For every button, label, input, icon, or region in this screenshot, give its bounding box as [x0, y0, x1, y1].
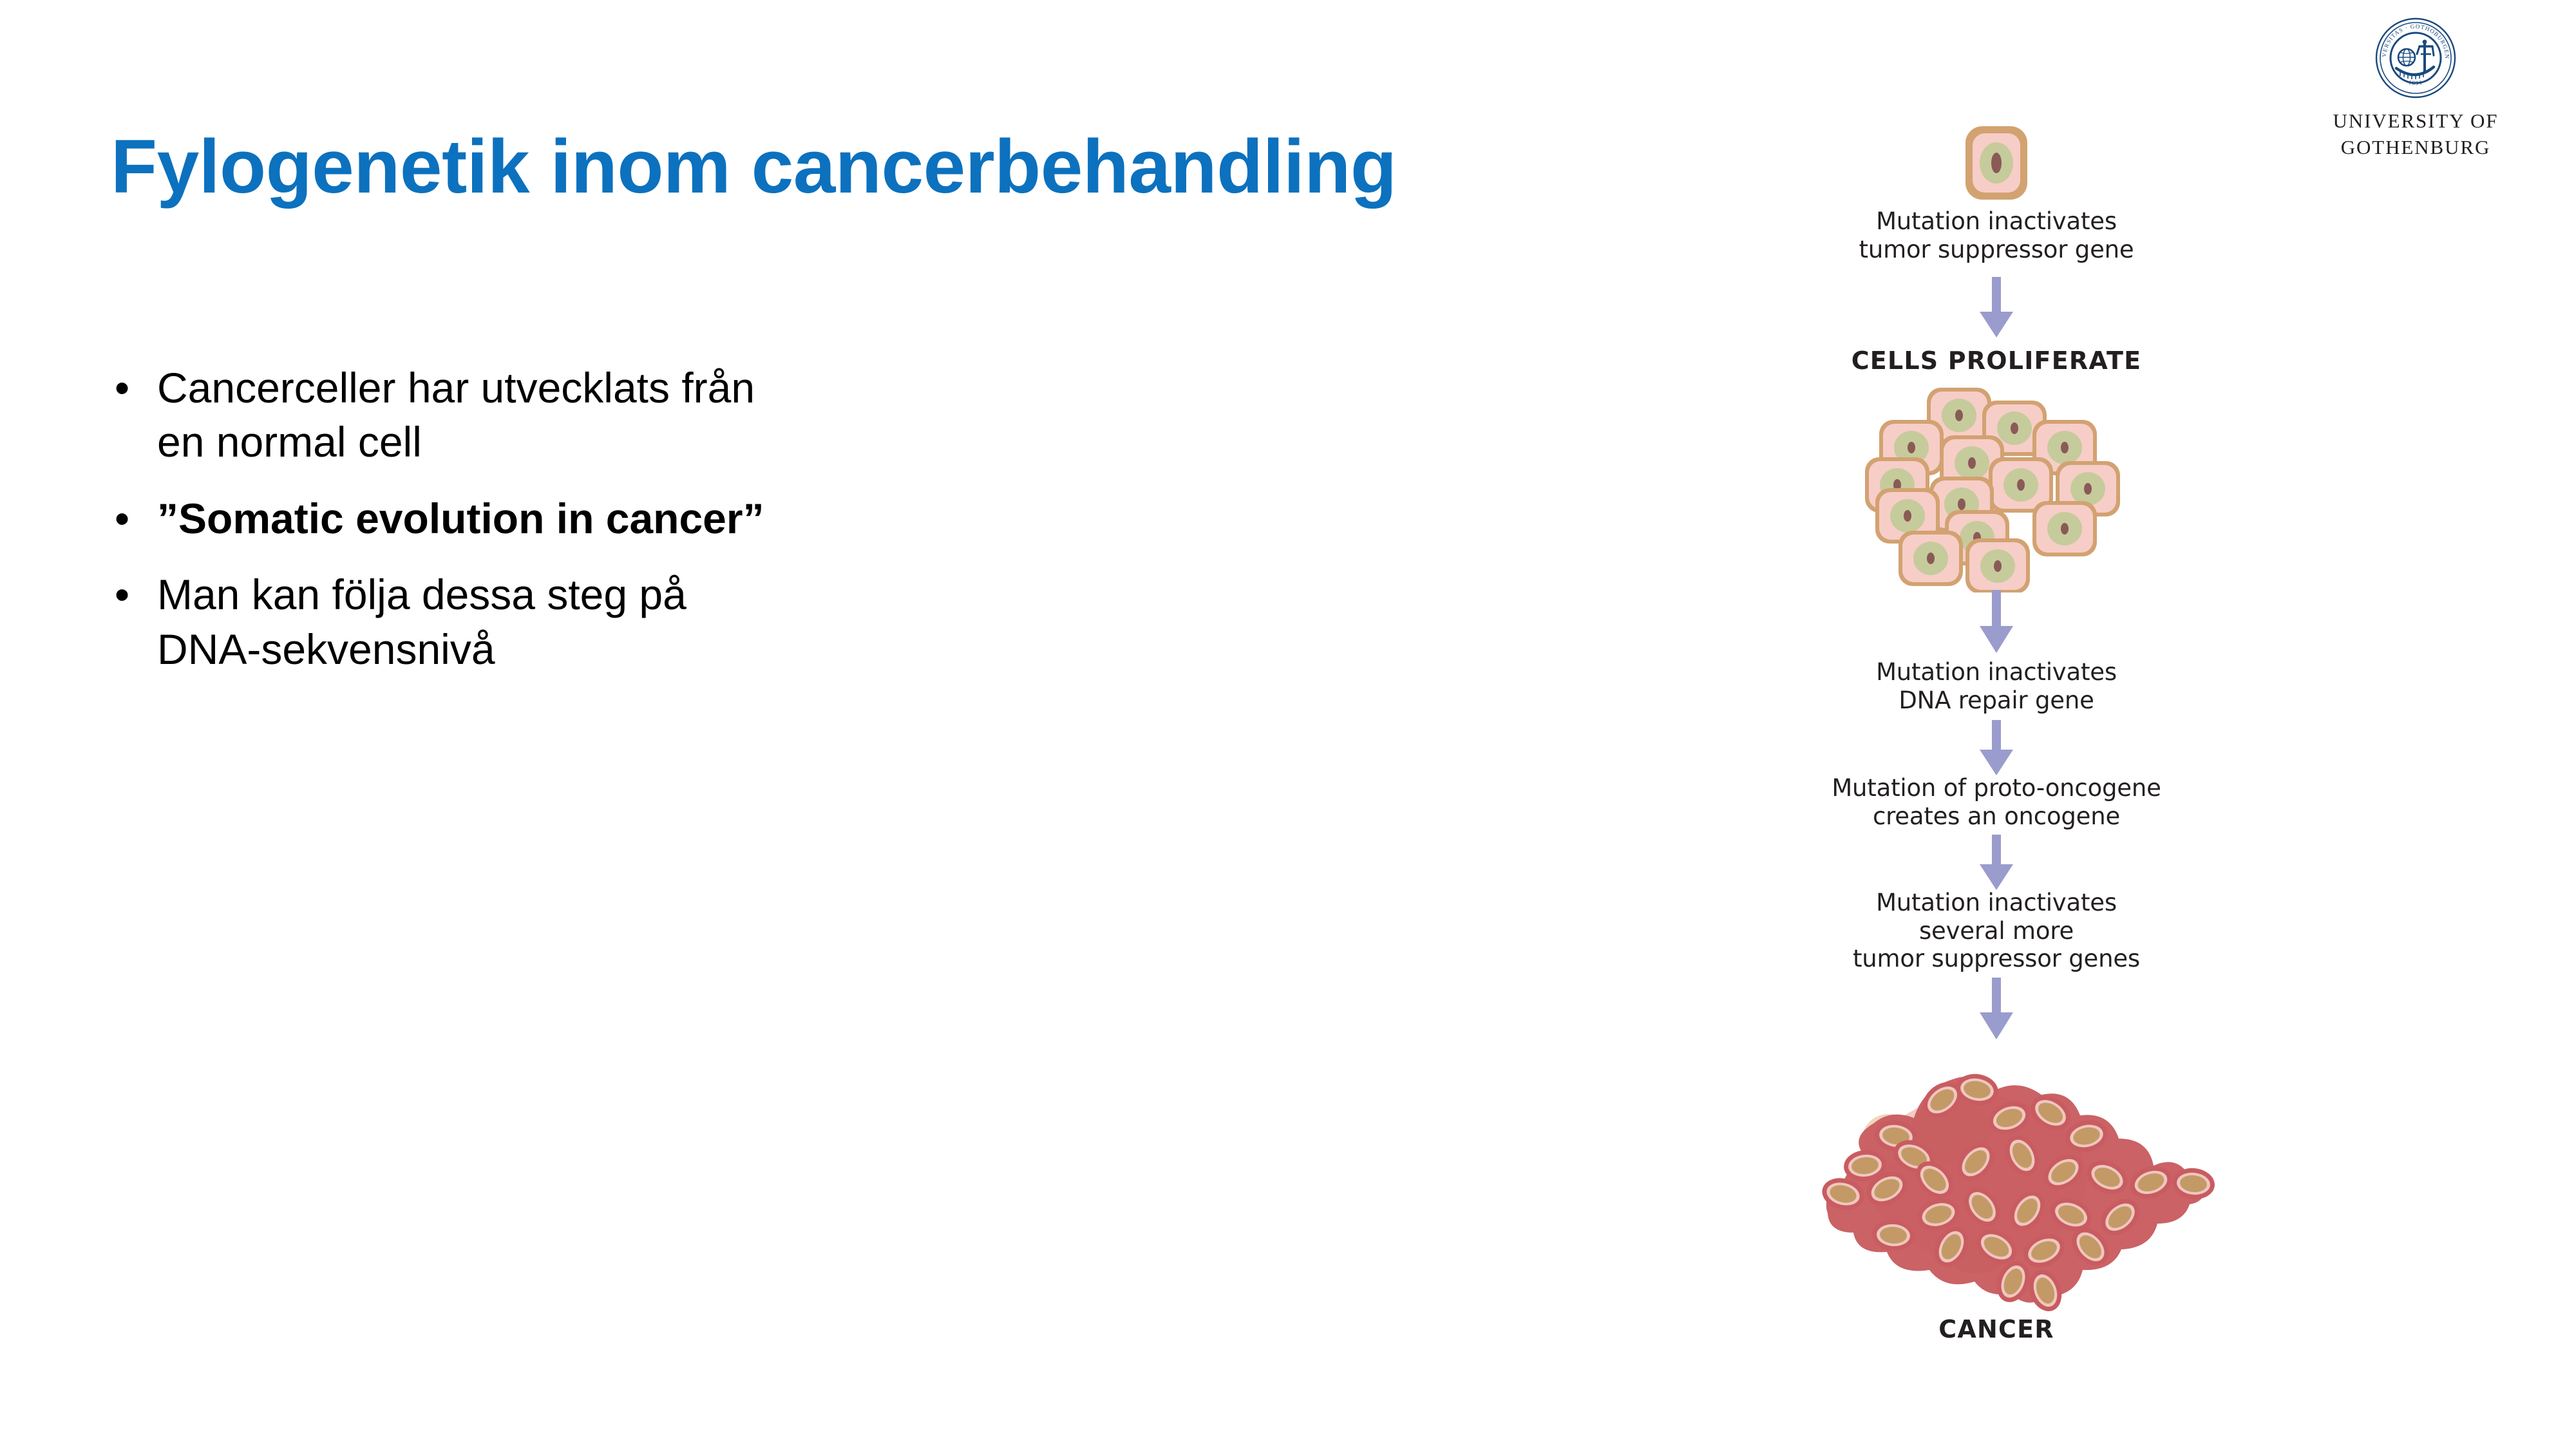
bullet-marker-icon: •: [109, 361, 157, 415]
down-arrow-icon: [1674, 277, 2318, 339]
list-item: • Man kan följa dessa steg på DNA-sekven…: [109, 567, 1172, 676]
step-2-label: CELLS PROLIFERATE: [1674, 346, 2318, 375]
down-arrow-icon: [1674, 720, 2318, 777]
university-seal-icon: UNIVERSITAS · GOTHOBURGENSIS · 1891 ·: [2374, 17, 2457, 99]
step-5-label: Mutation inactivates several more tumor …: [1674, 889, 2318, 973]
university-wordmark: UNIVERSITY OF GOTHENBURG: [2309, 108, 2522, 161]
down-arrow-icon: [1674, 835, 2318, 891]
step-1-label: Mutation inactivates tumor suppressor ge…: [1674, 207, 2318, 263]
step-4-label: Mutation of proto-oncogene creates an on…: [1674, 774, 2318, 830]
down-arrow-icon: [1674, 978, 2318, 1042]
university-logo: UNIVERSITAS · GOTHOBURGENSIS · 1891 ·: [2309, 17, 2522, 161]
bullet-text: ”Somatic evolution in cancer”: [157, 491, 1172, 545]
slide-canvas: Fylogenetik inom cancerbehandling • Canc…: [0, 0, 2576, 1449]
page-title: Fylogenetik inom cancerbehandling: [111, 126, 1592, 209]
cancer-progression-diagram: Mutation inactivates tumor suppressor ge…: [1674, 39, 2318, 1410]
single-cell-illustration: [1674, 121, 2318, 205]
bullet-marker-icon: •: [109, 491, 157, 545]
tumor-mass-illustration: [1674, 1042, 2318, 1312]
bullet-list: • Cancerceller har utvecklats från en no…: [109, 361, 1172, 698]
cell-cluster-illustration: [1674, 386, 2318, 592]
list-item: • Cancerceller har utvecklats från en no…: [109, 361, 1172, 469]
step-3-label: Mutation inactivates DNA repair gene: [1674, 658, 2318, 714]
step-6-label: CANCER: [1674, 1315, 2318, 1344]
list-item: • ”Somatic evolution in cancer”: [109, 491, 1172, 545]
bullet-marker-icon: •: [109, 567, 157, 621]
down-arrow-icon: [1674, 590, 2318, 654]
bullet-text: Man kan följa dessa steg på DNA-sekvensn…: [157, 567, 1172, 676]
bullet-text: Cancerceller har utvecklats från en norm…: [157, 361, 1172, 469]
